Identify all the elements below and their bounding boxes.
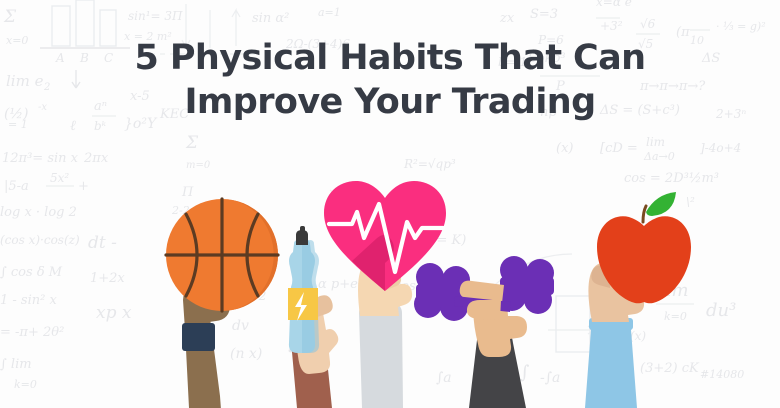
apple-leaf: [646, 192, 676, 216]
heart-arm-sleeve: [359, 304, 403, 408]
bottle-thumb: [316, 295, 333, 317]
dumbbell-thumb: [467, 300, 501, 320]
water-bottle-label: [288, 288, 318, 320]
habit-basketball: [166, 199, 278, 408]
banner-root: Σ x=0 A B C sin¹= 3Π x = 2 m² lim e 2 (½…: [0, 0, 780, 408]
water-bottle-nozzle: [300, 226, 305, 233]
habit-dumbbell: [414, 256, 554, 408]
wristband: [182, 323, 215, 351]
habit-water-bottle: [288, 226, 338, 408]
page-title: 5 Physical Habits That Can Improve Your …: [0, 36, 780, 124]
title-line-1: 5 Physical Habits That Can: [0, 36, 780, 80]
apple-stem: [643, 206, 646, 222]
apple-arm-sleeve: [585, 321, 637, 408]
habit-apple: [585, 192, 691, 408]
title-line-2: Improve Your Trading: [0, 80, 780, 124]
